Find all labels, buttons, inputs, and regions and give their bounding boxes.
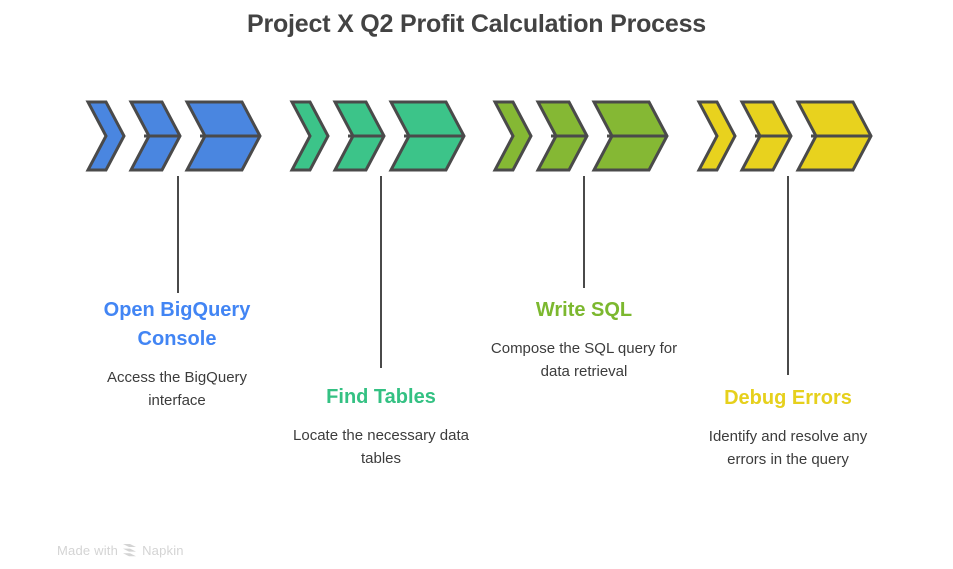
step-title-4: Debug Errors <box>688 384 888 413</box>
connector-line-step-3 <box>583 176 585 288</box>
triple-chevron-arrow-icon <box>695 100 875 172</box>
step-text-block-2: Find Tables Locate the necessary data ta… <box>281 383 481 470</box>
step-text-block-3: Write SQL Compose the SQL query for data… <box>484 296 684 383</box>
step-text-block-1: Open BigQuery Console Access the BigQuer… <box>77 296 277 412</box>
triple-chevron-arrow-icon <box>288 100 468 172</box>
triple-chevron-arrow-icon <box>491 100 671 172</box>
arrow-group-step-4 <box>695 100 875 172</box>
arrow-group-step-2 <box>288 100 468 172</box>
napkin-chevron-logo-icon <box>123 544 137 557</box>
page-title: Project X Q2 Profit Calculation Process <box>0 10 953 39</box>
watermark-prefix: Made with <box>57 543 118 558</box>
connector-line-step-4 <box>787 176 789 375</box>
arrow-group-step-3 <box>491 100 671 172</box>
infographic-canvas: Project X Q2 Profit Calculation Process … <box>0 0 953 569</box>
step-description-3: Compose the SQL query for data retrieval <box>484 337 684 383</box>
connector-line-step-1 <box>177 176 179 293</box>
arrow-group-step-1 <box>84 100 264 172</box>
watermark-brand: Napkin <box>142 543 184 558</box>
watermark: Made with Napkin <box>57 543 184 558</box>
triple-chevron-arrow-icon <box>84 100 264 172</box>
step-description-4: Identify and resolve any errors in the q… <box>688 425 888 471</box>
step-description-1: Access the BigQuery interface <box>77 366 277 412</box>
step-description-2: Locate the necessary data tables <box>281 424 481 470</box>
connector-line-step-2 <box>380 176 382 368</box>
step-title-3: Write SQL <box>484 296 684 325</box>
step-text-block-4: Debug Errors Identify and resolve any er… <box>688 384 888 471</box>
step-title-1: Open BigQuery Console <box>77 296 277 354</box>
step-title-2: Find Tables <box>281 383 481 412</box>
